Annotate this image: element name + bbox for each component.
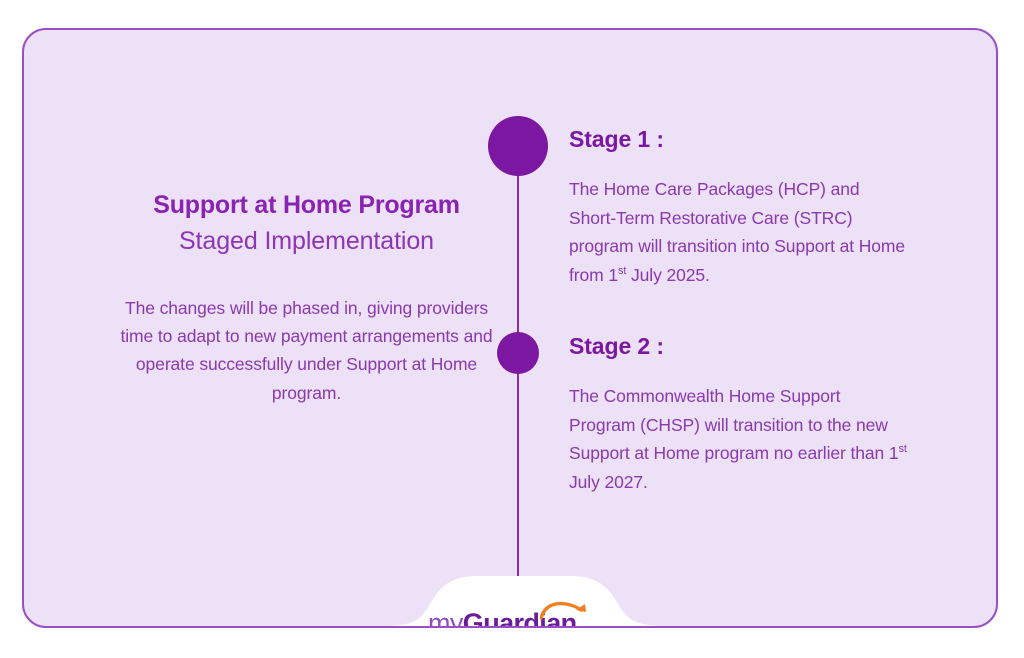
stage-2-body-text-after: July 2027. [569,472,648,492]
stage-1-body: The Home Care Packages (HCP) and Short-T… [569,175,909,289]
logo: myGuardian [428,608,598,628]
logo-prefix: my [428,608,463,628]
stage-1-ordinal-suffix: st [618,265,626,277]
stage-block-1: Stage 1 : The Home Care Packages (HCP) a… [569,126,909,289]
infographic-canvas: Support at Home Program Staged Implement… [0,0,1024,658]
page-subtitle: Staged Implementation [114,225,499,258]
timeline-dot-stage-2 [497,332,539,374]
stage-1-body-text-after: July 2025. [626,265,710,285]
stage-2-body-text-before: The Commonwealth Home Support Program (C… [569,386,899,463]
timeline-dot-stage-1 [488,116,548,176]
left-column: Support at Home Program Staged Implement… [114,190,499,407]
stage-block-2: Stage 2 : The Commonwealth Home Support … [569,333,909,496]
infographic-card: Support at Home Program Staged Implement… [22,28,998,628]
stage-2-ordinal-suffix: st [899,443,907,455]
right-column: Stage 1 : The Home Care Packages (HCP) a… [569,126,909,540]
stage-2-body: The Commonwealth Home Support Program (C… [569,382,909,496]
intro-paragraph: The changes will be phased in, giving pr… [114,294,499,407]
page-title: Support at Home Program [114,190,499,221]
stage-2-heading: Stage 2 : [569,333,909,360]
stage-1-heading: Stage 1 : [569,126,909,153]
swoosh-icon [540,599,588,621]
